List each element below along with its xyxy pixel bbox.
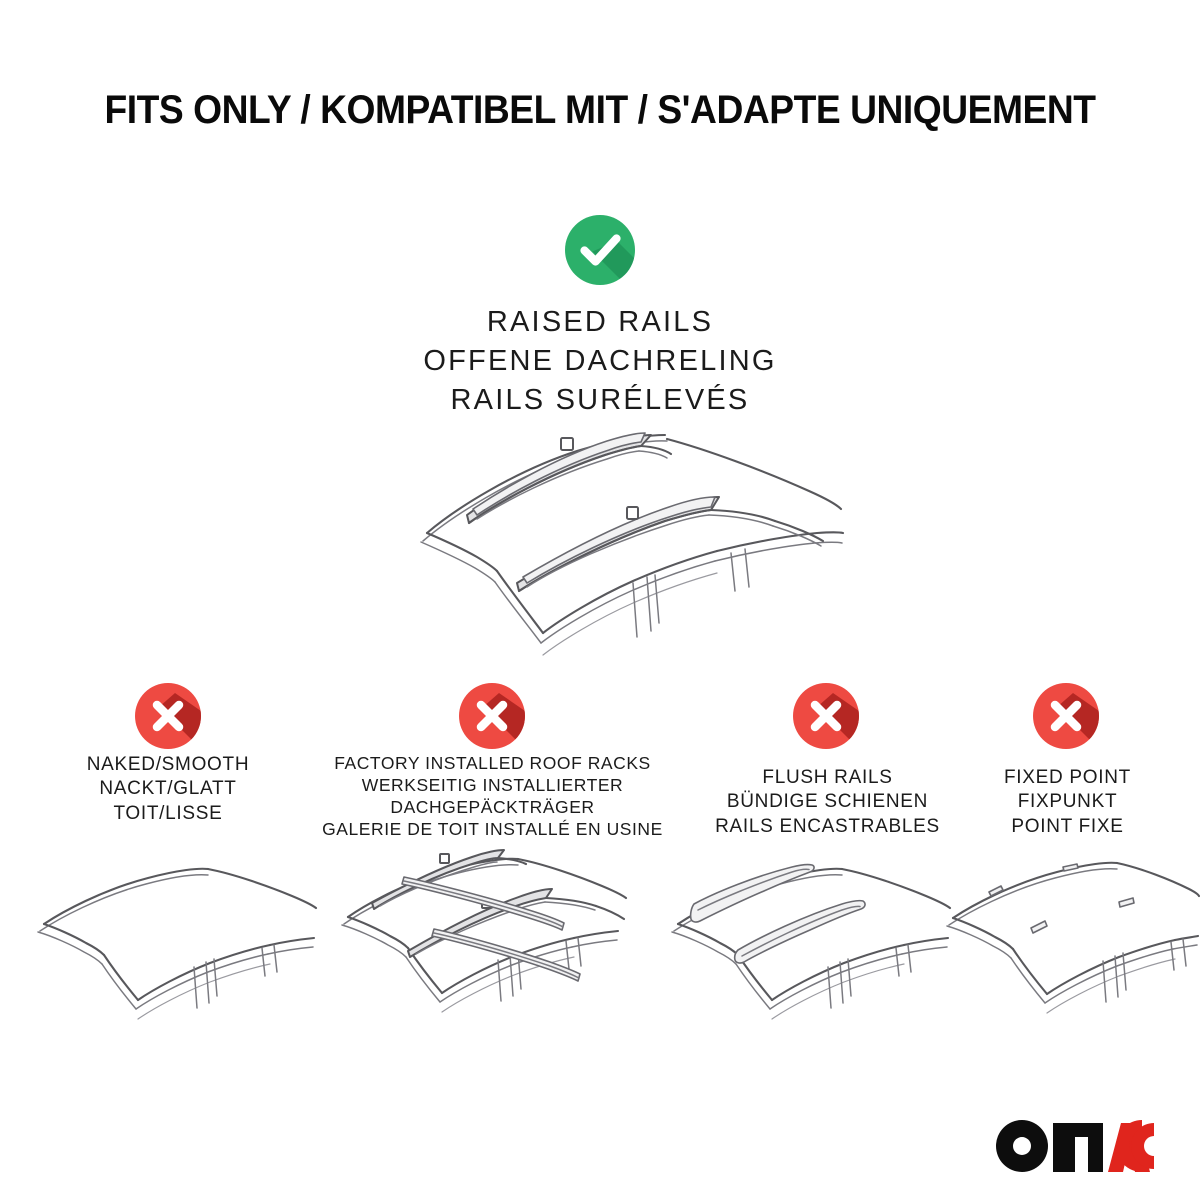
incompatible-label-line: POINT FIXE [955,815,1180,839]
cross-circle-icon [135,683,201,749]
incompatible-label-factory-roof-racks: FACTORY INSTALLED ROOF RACKS WERKSEITIG … [300,752,685,840]
incompatible-label-line: FLUSH RAILS [690,766,965,790]
page-title: FITS ONLY / KOMPATIBEL MIT / S'ADAPTE UN… [42,88,1158,133]
car-roof-naked-smooth-illustration [18,858,318,1048]
incompatible-label-line: FIXPUNKT [955,790,1180,814]
omac-logo [996,1120,1156,1172]
car-roof-raised-rails-illustration [365,405,845,675]
cross-circle-icon [793,683,859,749]
incompatible-label-line: FIXED POINT [955,766,1180,790]
compatible-label-line: RAISED RAILS [0,303,1200,342]
fitment-guide-page: FITS ONLY / KOMPATIBEL MIT / S'ADAPTE UN… [0,0,1200,1200]
incompatible-label-line: DACHGEPÄCKTRÄGER [300,796,685,818]
cross-circle-icon [459,683,525,749]
cross-circle-icon [1033,683,1099,749]
incompatible-label-line: WERKSEITIG INSTALLIERTER [300,774,685,796]
check-circle-icon [565,215,635,285]
incompatible-label-line: BÜNDIGE SCHIENEN [690,790,965,814]
incompatible-label-line: TOIT/LISSE [28,802,308,826]
car-roof-fixed-point-illustration [935,856,1200,1046]
incompatible-label-line: NACKT/GLATT [28,777,308,801]
incompatible-label-line: RAILS ENCASTRABLES [690,815,965,839]
incompatible-label-line: NAKED/SMOOTH [28,753,308,777]
incompatible-label-line: FACTORY INSTALLED ROOF RACKS [300,752,685,774]
compatible-label-line: OFFENE DACHRELING [0,342,1200,381]
incompatible-label-line: GALERIE DE TOIT INSTALLÉ EN USINE [300,818,685,840]
car-roof-flush-rails-illustration [652,858,952,1048]
incompatible-label-fixed-point: FIXED POINT FIXPUNKT POINT FIXE [955,766,1180,839]
incompatible-label-naked-smooth: NAKED/SMOOTH NACKT/GLATT TOIT/LISSE [28,753,308,826]
car-roof-factory-roof-racks-illustration [312,845,632,1045]
incompatible-label-flush-rails: FLUSH RAILS BÜNDIGE SCHIENEN RAILS ENCAS… [690,766,965,839]
compatible-label: RAISED RAILS OFFENE DACHRELING RAILS SUR… [0,303,1200,420]
